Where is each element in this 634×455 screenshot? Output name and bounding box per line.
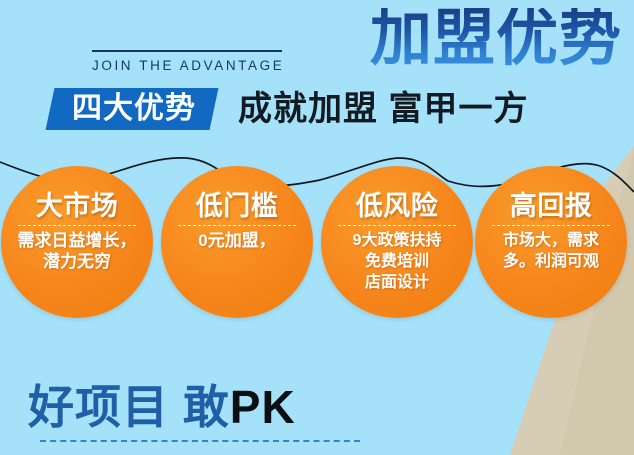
advantage-desc: 市场大，需求 多。利润可观 [475,230,627,272]
advantage-title: 高回报 [510,192,593,220]
eyebrow-text: JOIN THE ADVANTAGE [92,58,284,73]
advantage-title: 大市场 [36,192,119,220]
advantage-divider [178,225,296,226]
advantage-divider [18,225,136,226]
advantage-title: 低门槛 [196,192,279,220]
advantage-circle-3[interactable]: 低风险 9大政策扶持 免费培训 店面设计 [321,166,473,318]
advantage-divider [338,225,456,226]
advantage-title: 低风险 [356,192,439,220]
sub-title: 成就加盟 富甲一方 [238,89,528,129]
four-advantages-badge: 四大优势 [46,88,219,130]
advantage-circle-1[interactable]: 大市场 需求日益增长， 潜力无穷 [1,166,153,318]
advantage-circle-2[interactable]: 低门槛 0元加盟， [161,166,313,318]
badge-label: 四大优势 [72,94,196,124]
advantage-desc: 0元加盟， [161,230,313,251]
footer-slogan-dark: PK [230,381,296,433]
footer-slogan: 好项目 敢PK [28,380,448,434]
advantage-desc: 需求日益增长， 潜力无穷 [1,230,153,272]
poster-footer: 好项目 敢PK [28,380,448,450]
page-title: 加盟优势 [370,8,622,70]
advantage-circle-4[interactable]: 高回报 市场大，需求 多。利润可观 [475,166,627,318]
advantage-divider [492,225,610,226]
eyebrow-rule [92,50,282,52]
promo-poster: JOIN THE ADVANTAGE 加盟优势 四大优势 成就加盟 富甲一方 大 [0,0,634,455]
advantage-desc: 9大政策扶持 免费培训 店面设计 [321,230,473,293]
advantages-row: 大市场 需求日益增长， 潜力无穷 低门槛 0元加盟， 低风险 9大政策扶持 免费… [0,166,634,326]
footer-rule [40,440,360,442]
poster-header: JOIN THE ADVANTAGE 加盟优势 四大优势 成就加盟 富甲一方 [0,0,634,150]
footer-slogan-blue: 好项目 敢 [28,381,230,433]
